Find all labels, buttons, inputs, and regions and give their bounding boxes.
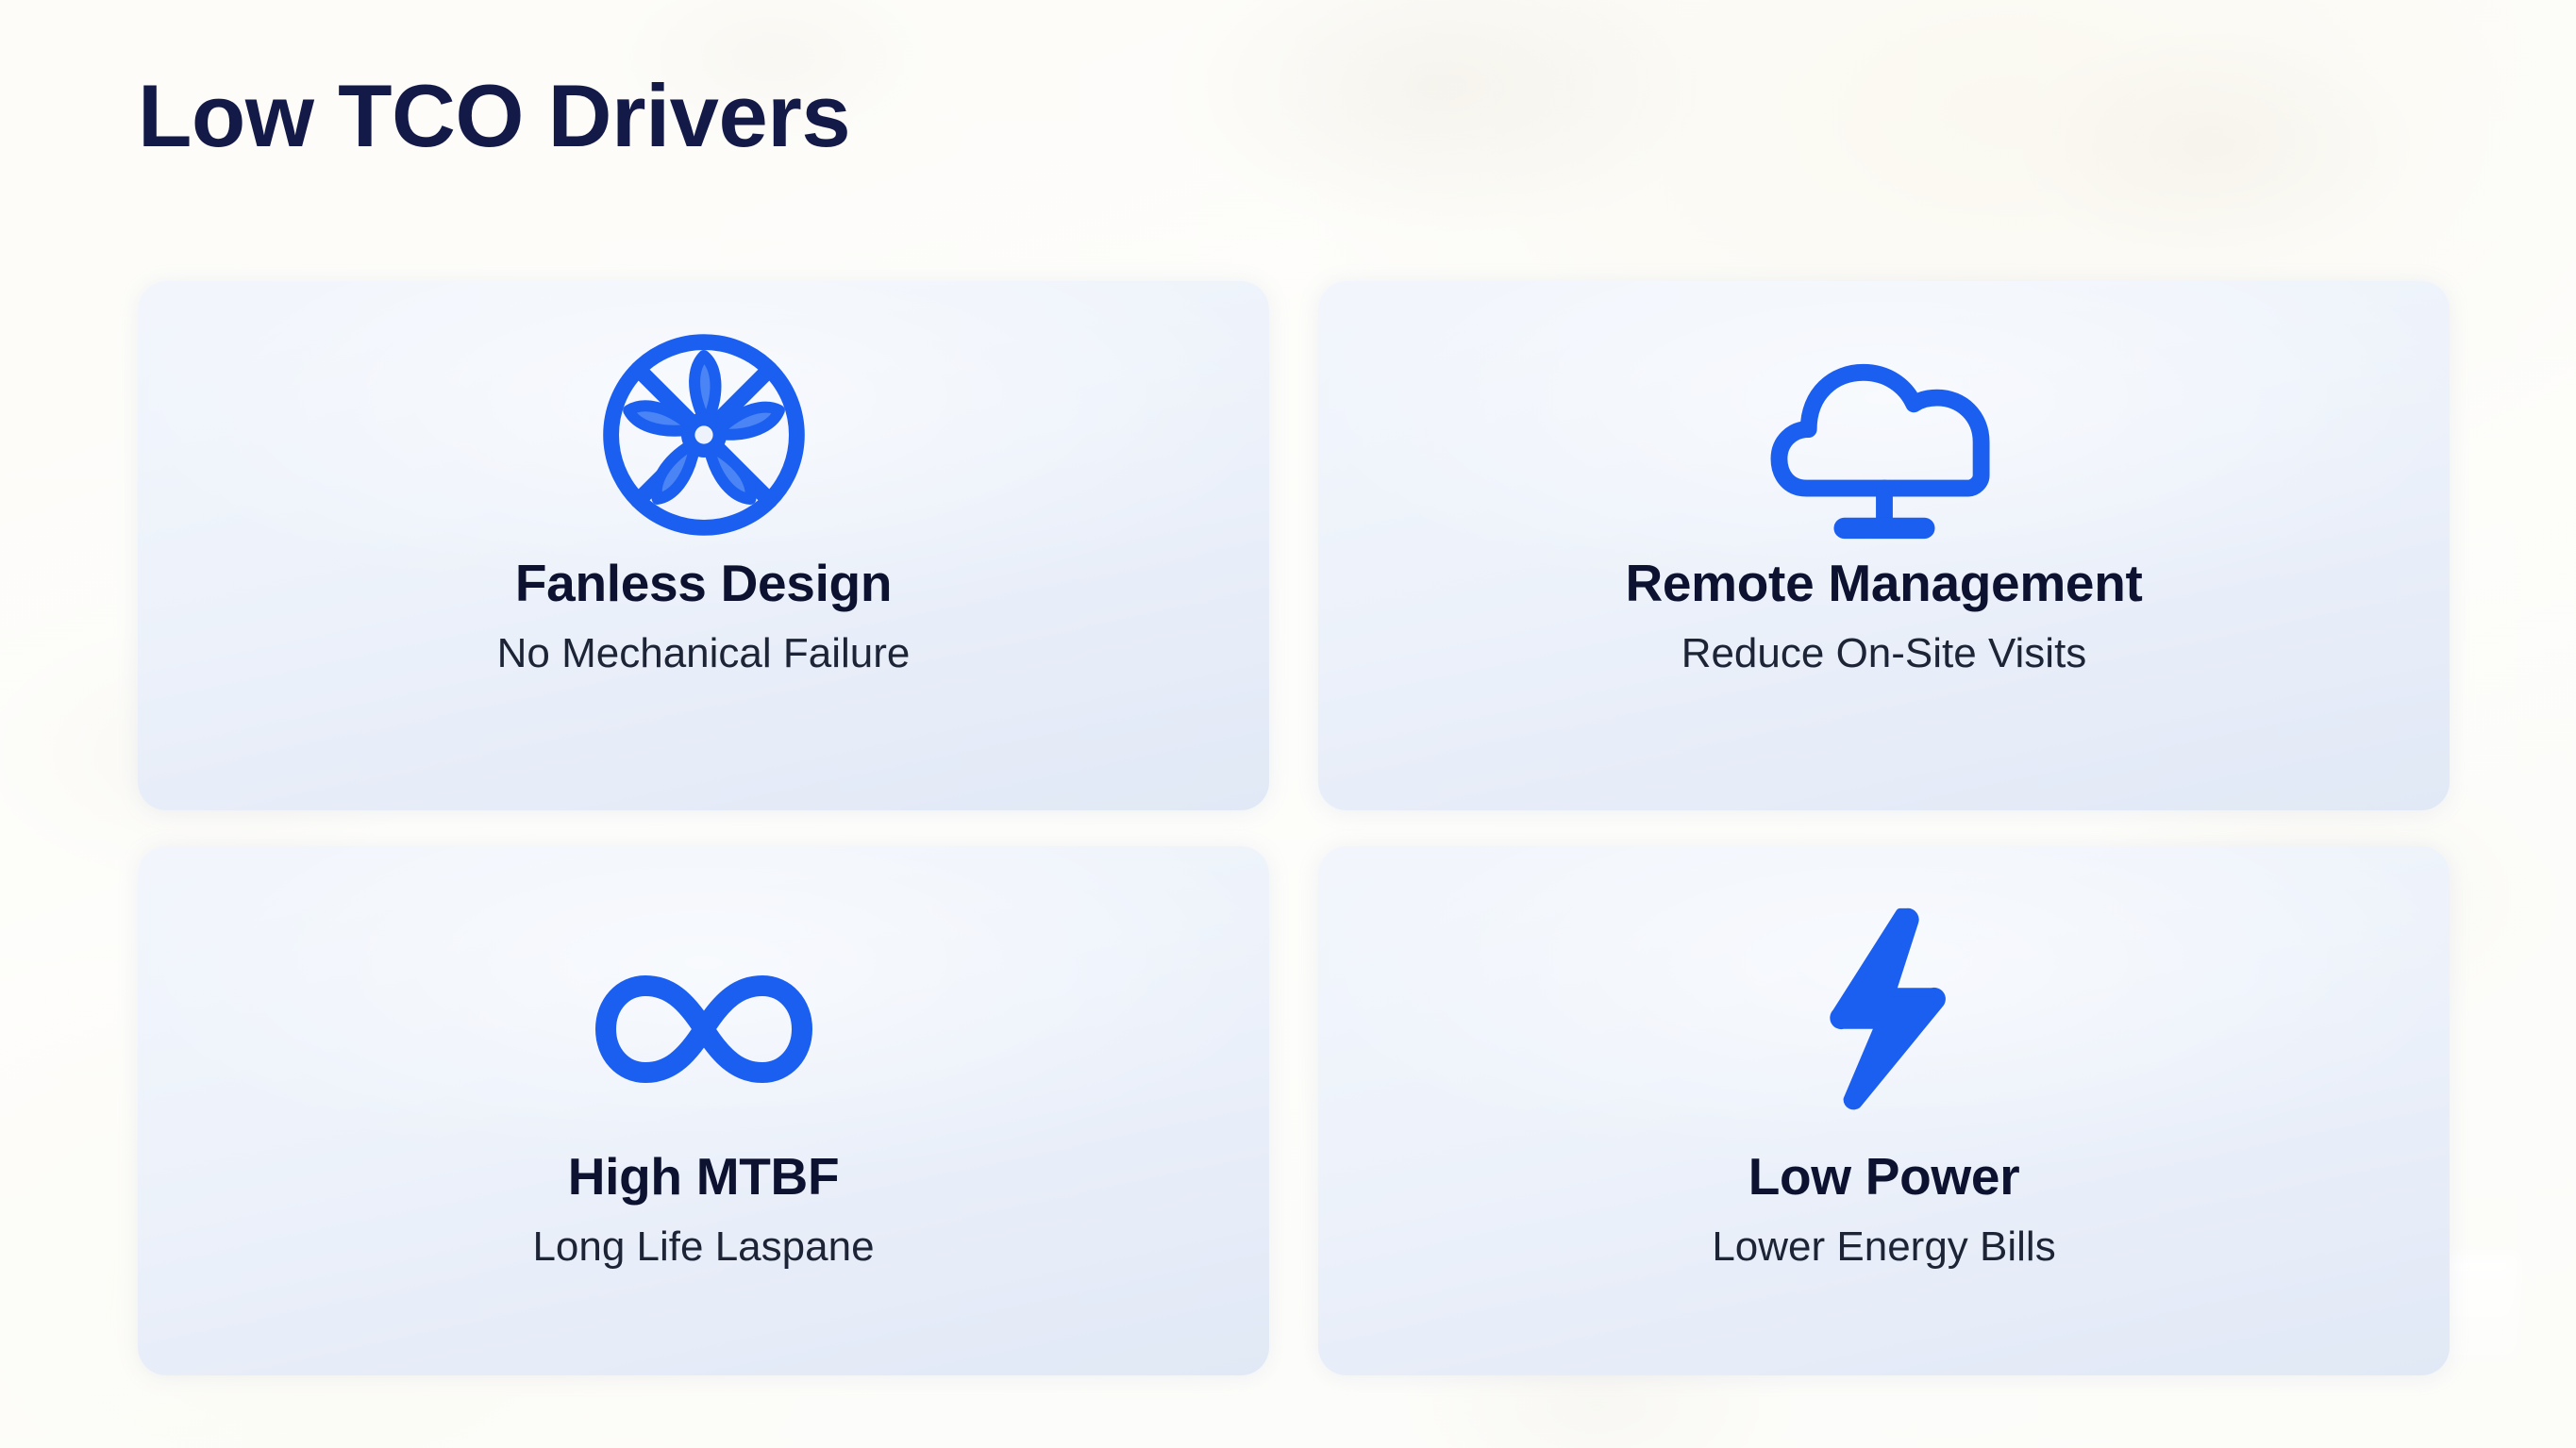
feature-card-remote-management[interactable]: Remote Management Reduce On-Site Visits [1318, 281, 2450, 810]
card-title: High MTBF [568, 1146, 840, 1207]
fan-icon [591, 317, 817, 553]
feature-card-high-mtbf[interactable]: High MTBF Long Life Laspane [138, 846, 1269, 1375]
card-title: Fanless Design [515, 553, 892, 613]
card-subtitle: Lower Energy Bills [1712, 1223, 2055, 1271]
card-title: Low Power [1748, 1146, 2020, 1207]
cloud-monitor-icon [1767, 323, 2001, 553]
infinity-icon [593, 937, 815, 1122]
page-title: Low TCO Drivers [138, 72, 850, 160]
card-title: Remote Management [1625, 553, 2142, 613]
card-subtitle: No Mechanical Failure [497, 630, 911, 677]
card-subtitle: Long Life Laspane [532, 1223, 874, 1271]
feature-card-low-power[interactable]: Low Power Lower Energy Bills [1318, 846, 2450, 1375]
feature-card-grid: Fanless Design No Mechanical Failure Rem [138, 281, 2450, 1375]
slide-canvas: Low TCO Drivers [0, 0, 2576, 1448]
card-subtitle: Reduce On-Site Visits [1681, 630, 2087, 677]
lightning-bolt-icon [1814, 895, 1955, 1122]
feature-card-fanless-design[interactable]: Fanless Design No Mechanical Failure [138, 281, 1269, 810]
